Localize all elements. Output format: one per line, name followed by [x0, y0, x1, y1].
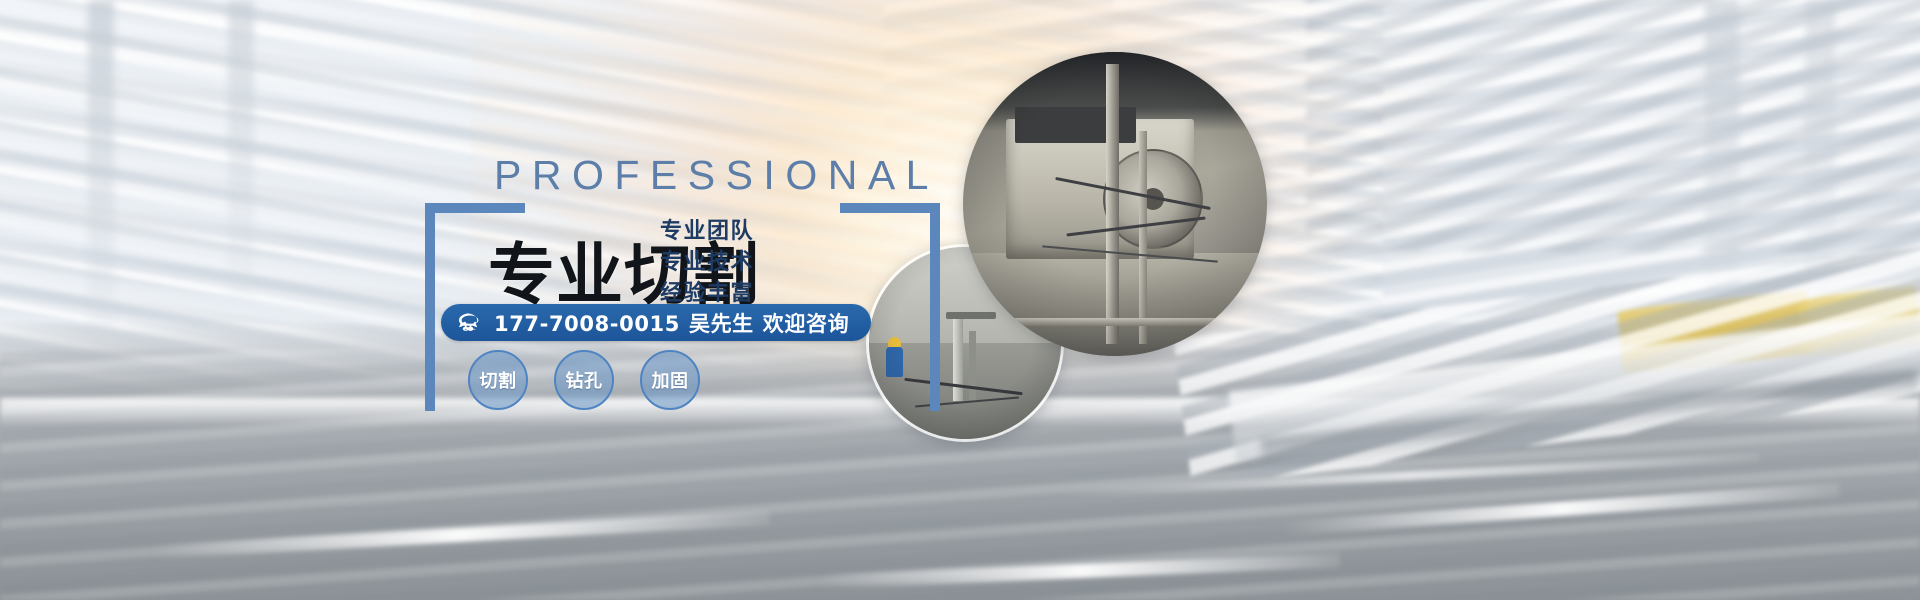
- bridge-pillar-blur-2: [228, 0, 254, 300]
- service-circle-group: 切割 钻孔 加固: [468, 350, 700, 410]
- phone-number: 177-7008-0015: [494, 312, 680, 336]
- feature-item-1: 专业团队: [660, 219, 754, 245]
- service-circle-cutting[interactable]: 切割: [468, 350, 528, 410]
- feature-list: 专业团队 专业技术 经验丰富: [660, 219, 754, 307]
- bridge-pillar-blur-1: [88, 0, 114, 330]
- feature-item-2: 专业技术: [660, 250, 754, 276]
- contact-text: 177-7008-0015吴先生欢迎咨询: [494, 308, 849, 338]
- promo-banner: PROFESSIONAL 专业切割 专业团队 专业技术 经验丰富 177-700…: [0, 0, 1920, 600]
- service-circle-reinforcing[interactable]: 加固: [640, 350, 700, 410]
- concrete-saw-machine-photo: [963, 52, 1267, 356]
- photo-big-vignette: [963, 52, 1267, 356]
- contact-phone-bar[interactable]: 177-7008-0015吴先生欢迎咨询: [441, 304, 871, 341]
- contact-name: 吴先生: [689, 312, 754, 336]
- telephone-icon: [457, 312, 483, 334]
- headline-english: PROFESSIONAL: [494, 152, 939, 199]
- call-to-action: 欢迎咨询: [763, 312, 849, 336]
- service-circle-drilling[interactable]: 钻孔: [554, 350, 614, 410]
